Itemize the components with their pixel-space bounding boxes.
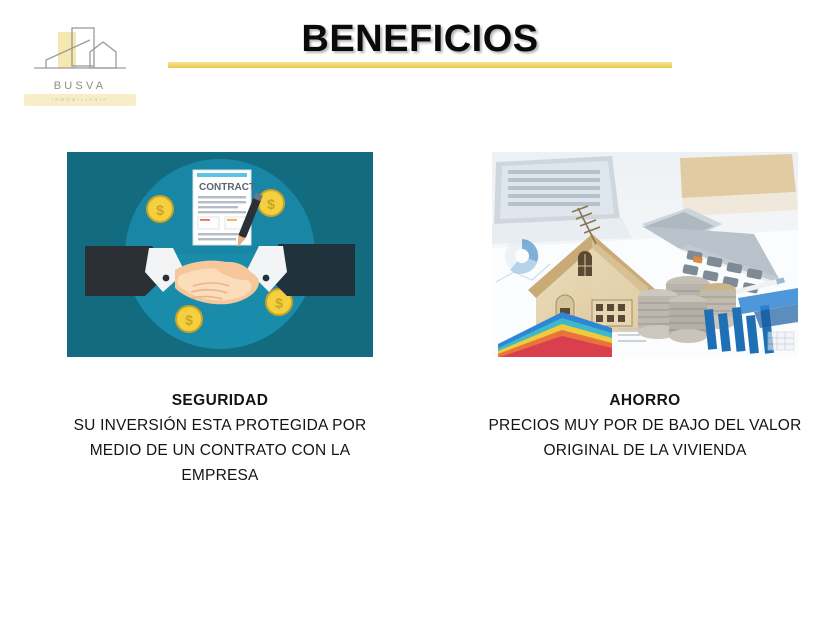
svg-text:$: $: [267, 196, 275, 212]
title-underline-rule: [168, 62, 672, 68]
benefit-body: PRECIOS MUY POR DE BAJO DEL VALOR ORIGIN…: [480, 413, 810, 463]
wooden-house-coins-calculator-photo: [492, 152, 798, 357]
handshake-contract-illustration: $ $ $ $ CONTRACT: [67, 152, 373, 357]
benefit-card-seguridad: $ $ $ $ CONTRACT: [67, 152, 373, 488]
logo-name: BUSVA: [24, 80, 136, 92]
logo-tagline: INMOBILIARIA: [24, 94, 136, 106]
benefit-heading: AHORRO: [480, 390, 810, 411]
benefit-heading: SEGURIDAD: [67, 390, 373, 411]
svg-text:$: $: [185, 312, 193, 328]
benefit-card-ahorro: AHORRO PRECIOS MUY POR DE BAJO DEL VALOR…: [492, 152, 798, 463]
benefit-body: SU INVERSIÓN ESTA PROTEGIDA POR MEDIO DE…: [67, 413, 373, 488]
svg-text:$: $: [275, 295, 283, 311]
svg-text:$: $: [156, 202, 164, 218]
slide-title: BENEFICIOS: [0, 18, 840, 61]
benefit-caption-seguridad: SEGURIDAD SU INVERSIÓN ESTA PROTEGIDA PO…: [67, 390, 373, 488]
benefit-caption-ahorro: AHORRO PRECIOS MUY POR DE BAJO DEL VALOR…: [480, 390, 810, 463]
svg-text:CONTRACT: CONTRACT: [199, 182, 255, 193]
